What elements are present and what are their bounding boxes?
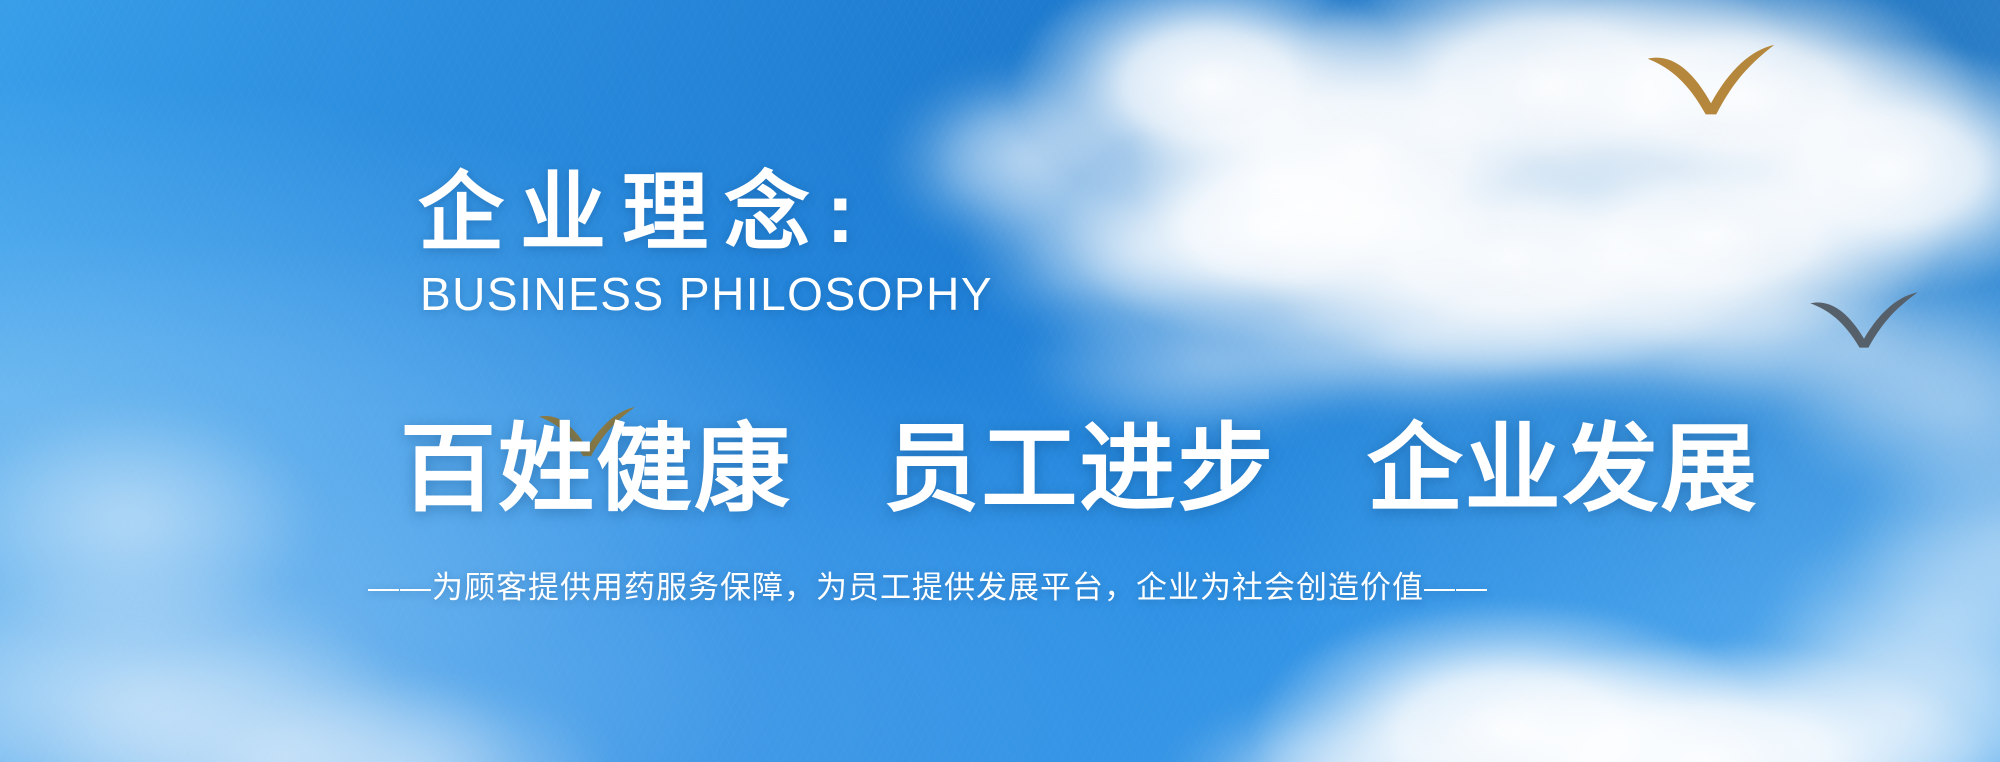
slogan-part-2: 员工进步 xyxy=(883,416,1275,523)
slogan-line: 百姓健康 员工进步 企业发展 xyxy=(400,418,1759,522)
slogan-part-3: 企业发展 xyxy=(1367,416,1759,523)
banner-text-content: 企业理念: BUSINESS PHILOSOPHY 百姓健康 员工进步 企业发展… xyxy=(0,0,2000,762)
page-subtitle-english: BUSINESS PHILOSOPHY xyxy=(420,269,993,320)
slogan-part-1: 百姓健康 xyxy=(400,416,792,523)
heading-group: 企业理念: BUSINESS PHILOSOPHY xyxy=(418,168,993,320)
business-philosophy-banner: 企业理念: BUSINESS PHILOSOPHY 百姓健康 员工进步 企业发展… xyxy=(0,0,2000,762)
tagline-text: ——为顾客提供用药服务保障，为员工提供发展平台，企业为社会创造价值—— xyxy=(368,568,1488,608)
page-title-chinese: 企业理念: xyxy=(418,168,993,259)
